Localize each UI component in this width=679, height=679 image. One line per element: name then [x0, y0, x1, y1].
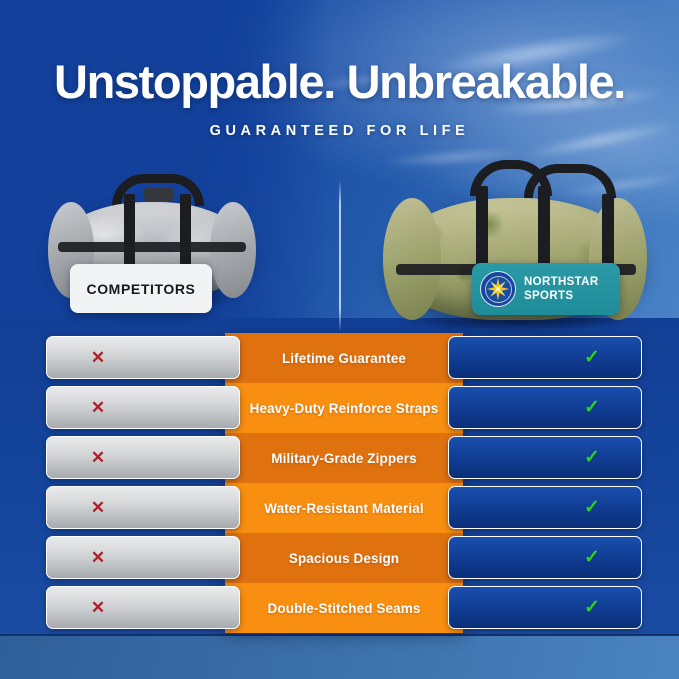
page-title: Unstoppable. Unbreakable. — [0, 58, 679, 107]
feature-label-column: Lifetime GuaranteeHeavy-Duty Reinforce S… — [225, 333, 463, 633]
competitors-label: COMPETITORS — [70, 264, 212, 313]
brand-cell: ✓ — [448, 386, 642, 429]
header: Unstoppable. Unbreakable. GUARANTEED FOR… — [0, 0, 679, 139]
feature-label: Heavy-Duty Reinforce Straps — [225, 383, 463, 433]
feature-label: Lifetime Guarantee — [225, 333, 463, 383]
comparison-infographic: Unstoppable. Unbreakable. GUARANTEED FOR… — [0, 0, 679, 679]
brand-name-line1: NORTHSTAR — [524, 276, 599, 288]
feature-label: Double-Stitched Seams — [225, 583, 463, 633]
brand-name-line2: SPORTS — [524, 290, 573, 302]
brand-cell: ✓ — [448, 436, 642, 479]
brand-cell: ✓ — [448, 536, 642, 579]
brand-cell: ✓ — [448, 586, 642, 629]
check-icon: ✓ — [584, 548, 600, 567]
cross-icon: ✕ — [91, 549, 105, 566]
compass-star-glyph — [481, 272, 515, 306]
check-icon: ✓ — [584, 498, 600, 517]
competitors-label-text: COMPETITORS — [86, 281, 195, 297]
bag-end-cap — [383, 198, 441, 320]
brand-cell: ✓ — [448, 336, 642, 379]
competitor-cell: ✕ — [46, 336, 240, 379]
check-icon: ✓ — [584, 598, 600, 617]
brand-badge: NORTHSTAR SPORTS — [472, 263, 620, 315]
vertical-divider — [339, 180, 341, 332]
page-subtitle: GUARANTEED FOR LIFE — [0, 123, 679, 139]
competitor-cell: ✕ — [46, 536, 240, 579]
feature-label: Water-Resistant Material — [225, 483, 463, 533]
competitor-cell: ✕ — [46, 486, 240, 529]
check-icon: ✓ — [584, 348, 600, 367]
brand-cell: ✓ — [448, 486, 642, 529]
cross-icon: ✕ — [91, 499, 105, 516]
northstar-compass-icon — [480, 271, 516, 307]
cross-icon: ✕ — [91, 449, 105, 466]
bottom-band — [0, 636, 679, 679]
cross-icon: ✕ — [91, 349, 105, 366]
competitor-cell: ✕ — [46, 586, 240, 629]
competitor-cell: ✕ — [46, 386, 240, 429]
cross-icon: ✕ — [91, 399, 105, 416]
handle-wrap — [144, 188, 174, 201]
competitor-cell: ✕ — [46, 436, 240, 479]
check-icon: ✓ — [584, 398, 600, 417]
check-icon: ✓ — [584, 448, 600, 467]
feature-label: Military-Grade Zippers — [225, 433, 463, 483]
cross-icon: ✕ — [91, 599, 105, 616]
brand-name: NORTHSTAR SPORTS — [524, 275, 599, 303]
feature-label: Spacious Design — [225, 533, 463, 583]
bag-strap-horizontal — [58, 242, 246, 252]
